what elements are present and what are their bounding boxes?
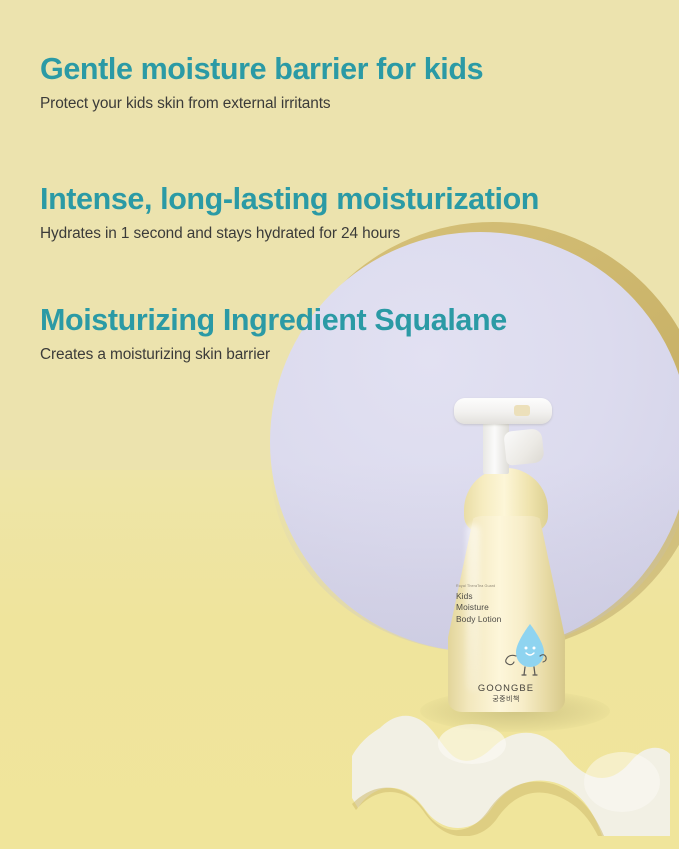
bottle-pump-cap — [454, 398, 552, 424]
bottle-label: Royal TheraTea Guard Kids Moisture Body … — [456, 584, 561, 625]
brand-name-korean: 궁중비책 — [446, 694, 566, 704]
feature-headline-3: Moisturizing Ingredient Squalane — [40, 303, 507, 337]
bottle-nozzle — [503, 428, 544, 466]
label-name-line-3: Body Lotion — [456, 614, 501, 624]
feature-subline-1: Protect your kids skin from external irr… — [40, 95, 483, 113]
water-droplet-mascot-icon — [500, 620, 548, 678]
feature-block-1: Gentle moisture barrier for kids Protect… — [40, 52, 483, 114]
product-bottle: Royal TheraTea Guard Kids Moisture Body … — [432, 398, 582, 728]
brand-name-english: GOONGBE — [446, 682, 566, 693]
feature-headline-2: Intense, long-lasting moisturization — [40, 182, 539, 216]
feature-block-3: Moisturizing Ingredient Squalane Creates… — [40, 303, 507, 365]
feature-block-2: Intense, long-lasting moisturization Hyd… — [40, 182, 539, 244]
brand-lockup: GOONGBE 궁중비책 — [446, 682, 566, 704]
product-advertisement: Gentle moisture barrier for kids Protect… — [0, 0, 679, 849]
cap-accent-dot — [514, 405, 530, 416]
label-name-line-2: Moisture — [456, 602, 489, 612]
feature-subline-2: Hydrates in 1 second and stays hydrated … — [40, 225, 539, 243]
label-tagline: Royal TheraTea Guard — [456, 584, 561, 588]
label-name-line-1: Kids — [456, 591, 473, 601]
feature-subline-3: Creates a moisturizing skin barrier — [40, 346, 507, 364]
feature-headline-1: Gentle moisture barrier for kids — [40, 52, 483, 86]
